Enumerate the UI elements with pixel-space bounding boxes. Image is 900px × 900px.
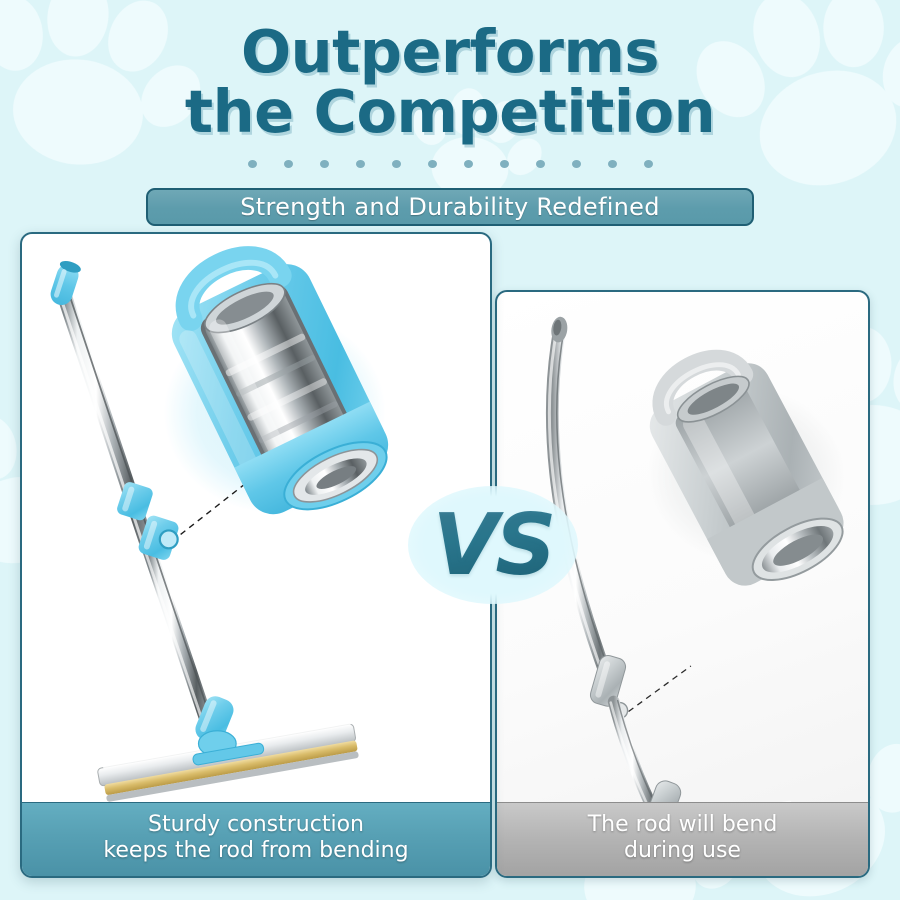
divider-dot <box>428 160 437 168</box>
divider-dot <box>248 160 257 168</box>
divider-dot <box>320 160 329 168</box>
caption-left: Sturdy construction keeps the rod from b… <box>22 802 490 876</box>
divider-dot <box>608 160 617 168</box>
divider-dot <box>572 160 581 168</box>
title-line-1: Outperforms <box>241 17 659 86</box>
subtitle-banner: Strength and Durability Redefined <box>146 188 754 226</box>
caption-left-line-2: keeps the rod from bending <box>28 838 484 864</box>
divider-dot <box>392 160 401 168</box>
divider-dot <box>356 160 365 168</box>
divider-dot <box>644 160 653 168</box>
caption-left-line-1: Sturdy construction <box>28 812 484 838</box>
vs-badge: VS <box>408 486 578 604</box>
infographic-canvas: Outperforms the Competition Strength and… <box>0 0 900 900</box>
divider-dot <box>536 160 545 168</box>
divider-dot <box>464 160 473 168</box>
vs-label: VS <box>432 503 553 588</box>
caption-right-line-1: The rod will bend <box>503 812 862 838</box>
caption-right: The rod will bend during use <box>497 802 868 876</box>
title-line-2: the Competition <box>0 82 900 142</box>
divider-dot <box>284 160 293 168</box>
divider-dot <box>500 160 509 168</box>
caption-right-line-2: during use <box>503 838 862 864</box>
page-title: Outperforms the Competition <box>0 22 900 142</box>
dot-divider <box>0 160 900 168</box>
